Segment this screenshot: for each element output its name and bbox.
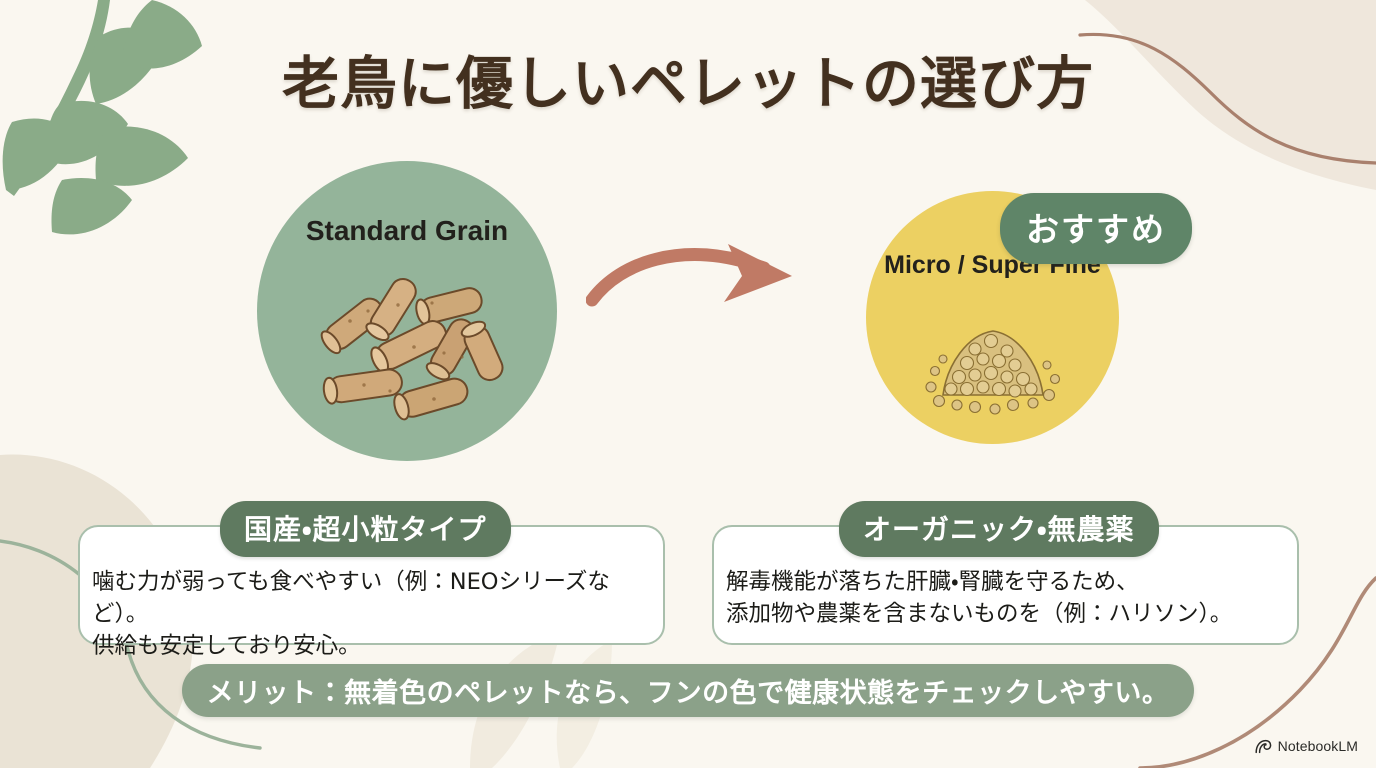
info-card-domestic: 国産・超小粒タイプ 噛む力が弱っても食べやすい（例：NEOシリーズなど）。 供給… (78, 525, 665, 645)
circle-standard-grain: Standard Grain (257, 161, 557, 461)
info-card-organic-heading: オーガニック・無農薬 (839, 501, 1159, 557)
infographic-slide: 老鳥に優しいペレットの選び方 Standard Grain (0, 0, 1376, 768)
notebooklm-watermark: NotebookLM (1255, 738, 1358, 754)
info-card-domestic-heading: 国産・超小粒タイプ (220, 501, 511, 557)
notebooklm-spiral-icon (1255, 739, 1272, 754)
circle-standard-grain-label: Standard Grain (257, 215, 557, 247)
notebooklm-label: NotebookLM (1278, 738, 1358, 754)
info-card-domestic-body: 噛む力が弱っても食べやすい（例：NEOシリーズなど）。 供給も安定しており安心。 (92, 567, 651, 663)
fine-crumbs-pile-icon (913, 303, 1073, 423)
page-title: 老鳥に優しいペレットの選び方 (0, 38, 1376, 120)
pellet-cylinders-icon (302, 261, 512, 421)
merit-banner-text: メリット：無着色のペレットなら、フンの色で健康状態をチェックしやすい。 (207, 671, 1170, 710)
info-card-organic-body: 解毒機能が落ちた肝臓・腎臓を守るため、 添加物や農薬を含まないものを（例：ハリソ… (726, 567, 1285, 631)
recommend-badge: おすすめ (1000, 193, 1192, 264)
merit-banner: メリット：無着色のペレットなら、フンの色で健康状態をチェックしやすい。 (182, 664, 1194, 717)
info-card-organic: オーガニック・無農薬 解毒機能が落ちた肝臓・腎臓を守るため、 添加物や農薬を含ま… (712, 525, 1299, 645)
curved-right-arrow-icon (586, 236, 826, 326)
